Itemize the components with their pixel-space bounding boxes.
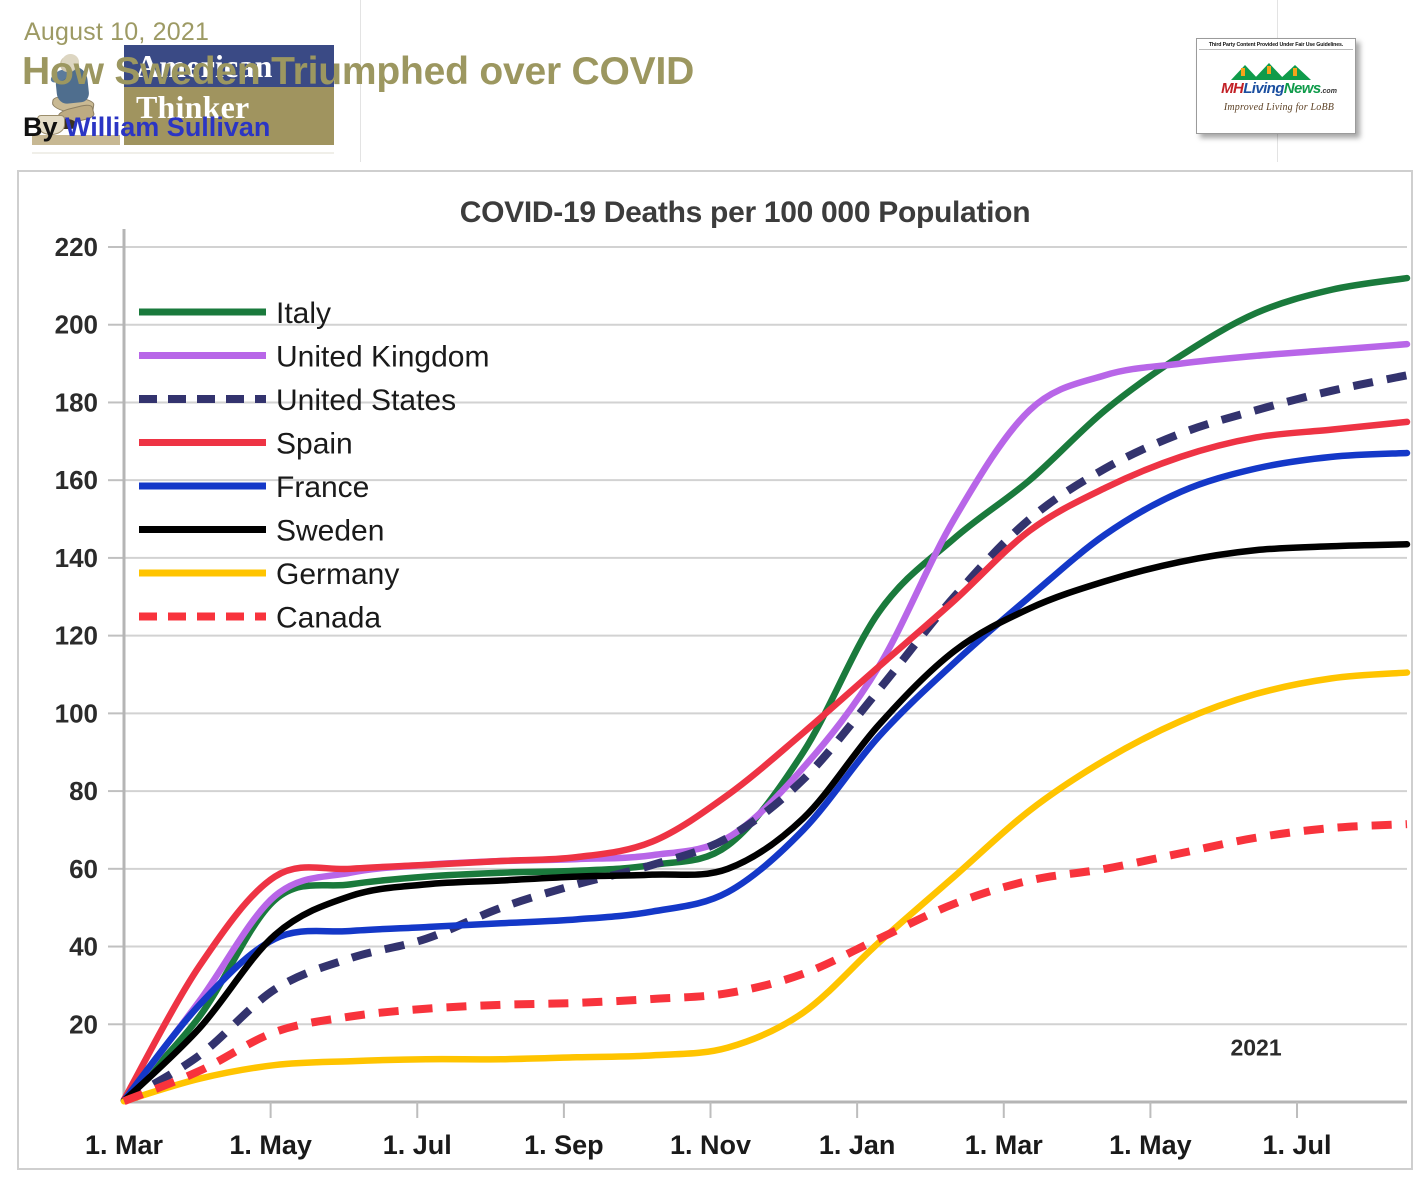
legend-label-italy: Italy xyxy=(276,297,331,330)
legend-label-germany: Germany xyxy=(276,558,399,591)
y-tick-label: 100 xyxy=(55,698,98,728)
x-tick-label: 1. Sep xyxy=(524,1130,604,1160)
chart-canvas: 204060801001201401601802002201. Mar1. Ma… xyxy=(19,172,1411,1168)
x-tick-label: 1. Mar xyxy=(85,1130,164,1160)
article-byline: By William Sullivan xyxy=(23,112,270,143)
x-tick-label: 1. Jul xyxy=(383,1130,452,1160)
x-tick-label: 1. Jan xyxy=(819,1130,896,1160)
mhlivingnews-logo: MHLivingNews.com Improved Living for LoB… xyxy=(1199,50,1353,132)
x-tick-label: 1. May xyxy=(1109,1130,1192,1160)
y-tick-label: 220 xyxy=(55,232,98,262)
byline-prefix: By xyxy=(23,112,65,142)
fair-use-notice: Third Party Content Provided Under Fair … xyxy=(1199,41,1353,50)
x-tick-label: 1. Nov xyxy=(670,1130,751,1160)
mhlivingnews-badge[interactable]: Third Party Content Provided Under Fair … xyxy=(1196,38,1356,134)
legend-label-united-kingdom: United Kingdom xyxy=(276,341,489,374)
article-date: August 10, 2021 xyxy=(24,18,209,47)
year-annotation: 2021 xyxy=(1230,1034,1281,1060)
rooftops-icon xyxy=(1227,62,1331,80)
line-chart: 204060801001201401601802002201. Mar1. Ma… xyxy=(19,172,1411,1168)
wordmark-com: .com xyxy=(1321,88,1337,95)
y-tick-label: 160 xyxy=(55,465,98,495)
series-line-france xyxy=(124,453,1407,1100)
y-tick-label: 80 xyxy=(69,776,98,806)
y-tick-label: 20 xyxy=(69,1009,98,1039)
legend-label-canada: Canada xyxy=(276,602,381,635)
legend-label-spain: Spain xyxy=(276,428,353,461)
y-tick-label: 40 xyxy=(69,932,98,962)
wordmark-news: News xyxy=(1284,80,1321,97)
y-tick-label: 180 xyxy=(55,387,98,417)
wordmark-living: Living xyxy=(1243,80,1284,97)
y-tick-label: 60 xyxy=(69,854,98,884)
legend-label-united-states: United States xyxy=(276,384,456,417)
wordmark-mh: MH xyxy=(1221,80,1243,97)
x-tick-label: 1. Jul xyxy=(1263,1130,1332,1160)
article-author-link[interactable]: William Sullivan xyxy=(65,112,270,142)
y-tick-label: 120 xyxy=(55,621,98,651)
legend-label-sweden: Sweden xyxy=(276,515,384,548)
legend-label-france: France xyxy=(276,471,369,504)
x-tick-label: 1. May xyxy=(229,1130,312,1160)
article-header: American Thinker August 10, 2021 How Swe… xyxy=(0,0,1426,168)
y-tick-label: 140 xyxy=(55,543,98,573)
chart-panel: COVID-19 Deaths per 100 000 Population 2… xyxy=(17,170,1413,1170)
article-title: How Sweden Triumphed over COVID xyxy=(22,50,694,94)
y-tick-label: 200 xyxy=(55,310,98,340)
mhlivingnews-wordmark: MHLivingNews.com xyxy=(1213,80,1345,97)
mhlivingnews-tagline: Improved Living for LoBB xyxy=(1199,102,1353,113)
x-tick-label: 1. Mar xyxy=(965,1130,1044,1160)
